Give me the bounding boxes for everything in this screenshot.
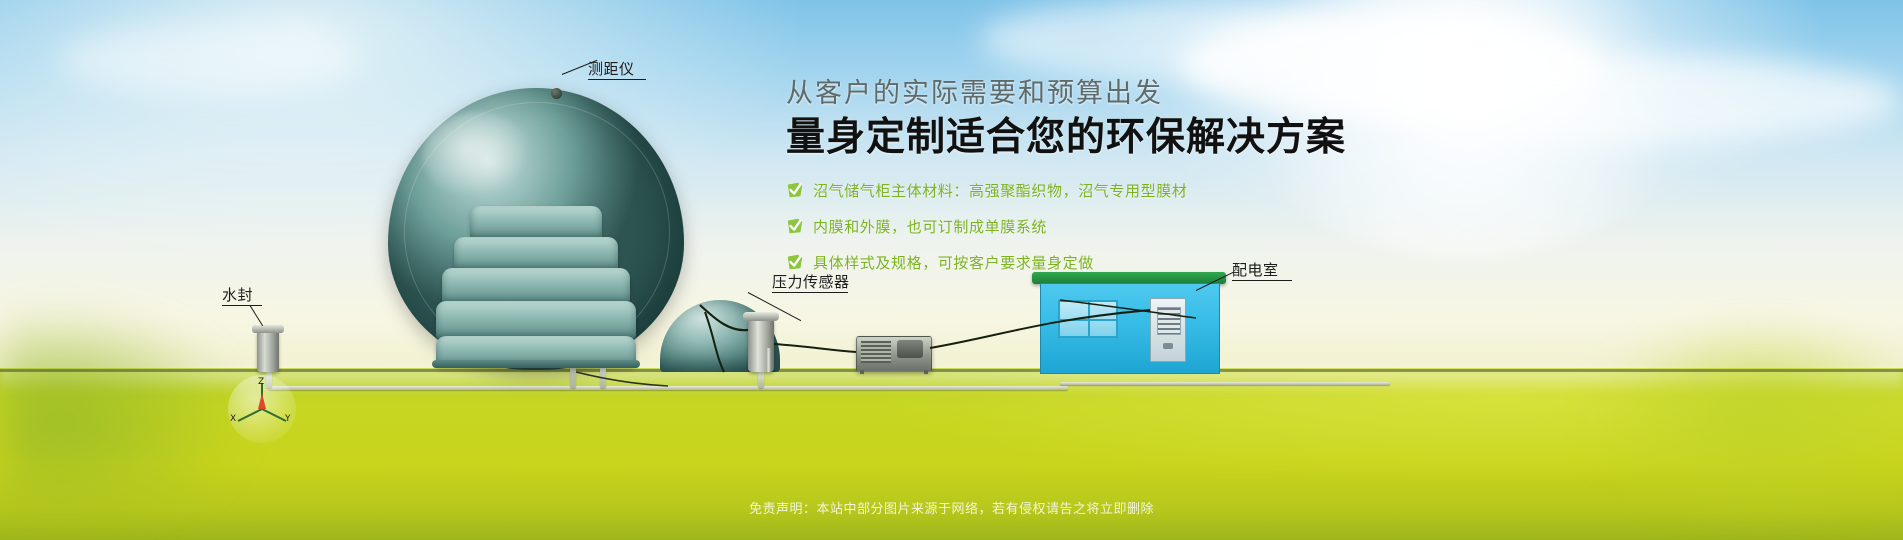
bullet-text: 沼气储气柜主体材料：高强聚酯织物，沼气专用型膜材 xyxy=(813,180,1187,201)
list-item: 内膜和外膜，也可订制成单膜系统 xyxy=(786,216,1426,237)
subheadline: 从客户的实际需要和预算出发 xyxy=(786,78,1426,109)
cable-pump-to-house xyxy=(930,310,1150,348)
cable-dome-down xyxy=(705,312,724,372)
check-icon xyxy=(786,217,804,235)
feature-bullet-list: 沼气储气柜主体材料：高强聚酯织物，沼气专用型膜材 内膜和外膜，也可订制成单膜系统… xyxy=(786,180,1426,273)
cable-sensor-to-pump xyxy=(774,344,856,352)
check-icon xyxy=(786,253,804,271)
marketing-copy-block: 从客户的实际需要和预算出发 量身定制适合您的环保解决方案 沼气储气柜主体材料：高… xyxy=(786,78,1426,288)
hero-banner: 测距仪 水封 压力传感器 配电室 xyxy=(0,0,1903,540)
headline: 量身定制适合您的环保解决方案 xyxy=(786,115,1426,162)
axis-label-y: Y xyxy=(284,414,291,424)
bullet-text: 具体样式及规格，可按客户要求量身定做 xyxy=(813,252,1094,273)
cable-house-left xyxy=(1060,300,1196,318)
axis-label-x: X xyxy=(230,414,236,424)
list-item: 沼气储气柜主体材料：高强聚酯织物，沼气专用型膜材 xyxy=(786,180,1426,201)
list-item: 具体样式及规格，可按客户要求量身定做 xyxy=(786,252,1426,273)
pipe-link-left xyxy=(576,372,668,386)
bullet-text: 内膜和外膜，也可订制成单膜系统 xyxy=(813,216,1047,237)
axis-label-z: Z xyxy=(258,377,264,387)
check-icon xyxy=(786,181,804,199)
disclaimer-text: 免责声明：本站中部分图片来源于网络，若有侵权请告之将立即删除 xyxy=(0,498,1903,517)
axis-orientation-gizmo: Z Y X xyxy=(228,375,296,443)
